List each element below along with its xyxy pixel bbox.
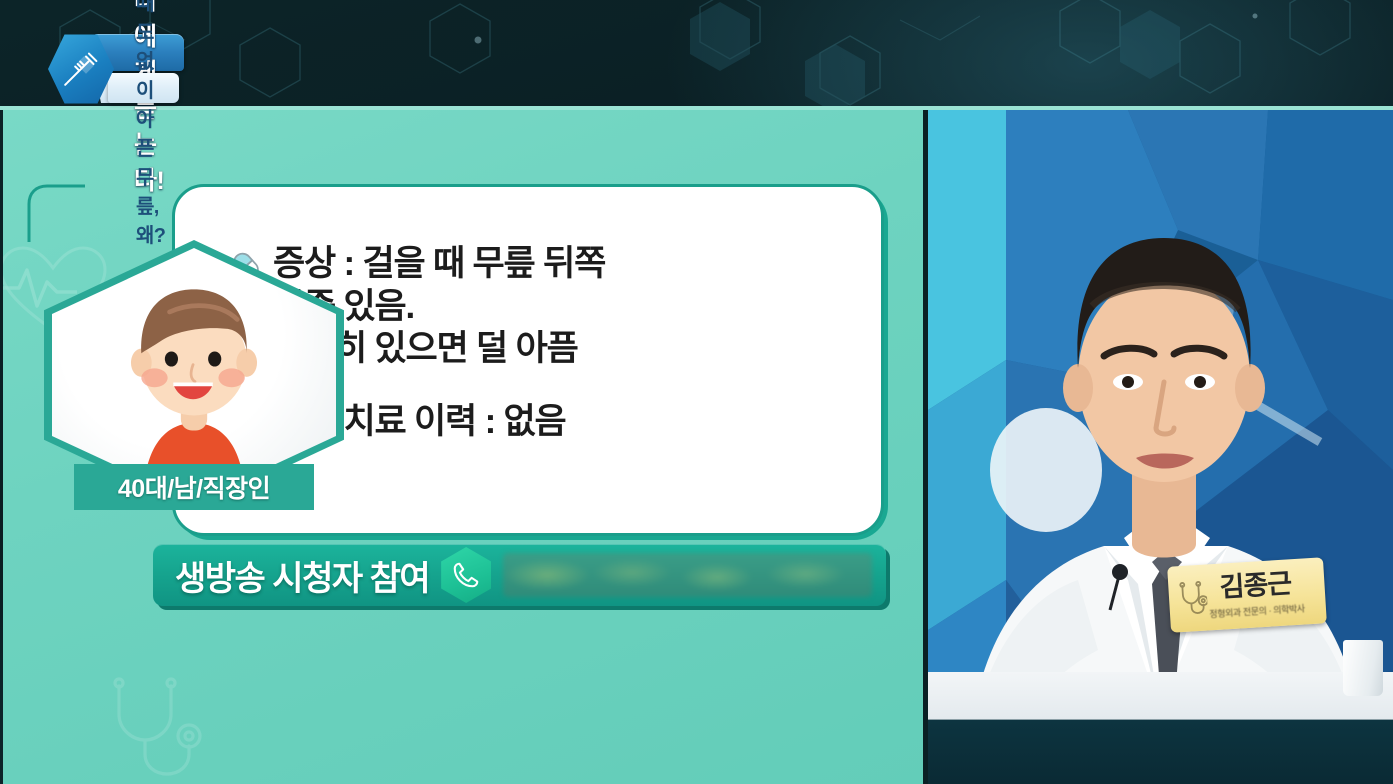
- studio-desk: [928, 672, 1393, 784]
- viewer-participation-bar: 생방송 시청자 참여: [153, 544, 886, 606]
- caller-label: 40대/남/직장인: [74, 464, 314, 510]
- broadcast-screen: 굿닥터에게 듣는다! 시도 때도 없이 아픈 무릎, 왜?: [0, 0, 1393, 784]
- program-subtitle-text: 시도 때도 없이 아픈 무릎, 왜?: [136, 0, 165, 248]
- program-subtitle-band: 시도 때도 없이 아픈 무릎, 왜?: [108, 73, 179, 103]
- doctor-credentials: 정형외과 전문의 · 의학박사: [1209, 601, 1305, 620]
- doctor-name-tag: 김종근 정형외과 전문의 · 의학박사: [1167, 557, 1327, 632]
- desk-cup: [1343, 640, 1383, 696]
- stethoscope-icon: [1176, 580, 1208, 616]
- panel-top-rule: [0, 106, 1393, 110]
- doctor-name: 김종근: [1219, 570, 1292, 601]
- cta-label: 생방송 시청자 참여: [175, 551, 429, 600]
- caller-avatar: 40대/남/직장인: [44, 240, 344, 510]
- phone-handset-icon: [441, 547, 491, 603]
- caller-label-text: 40대/남/직장인: [118, 469, 270, 505]
- panel-divider: [923, 110, 928, 784]
- stethoscope-icon: [93, 670, 213, 784]
- card-connector-elbow: [27, 184, 87, 244]
- phone-number-blurred: [503, 553, 872, 597]
- studio-video-feed: 김종근 정형외과 전문의 · 의학박사: [928, 110, 1393, 784]
